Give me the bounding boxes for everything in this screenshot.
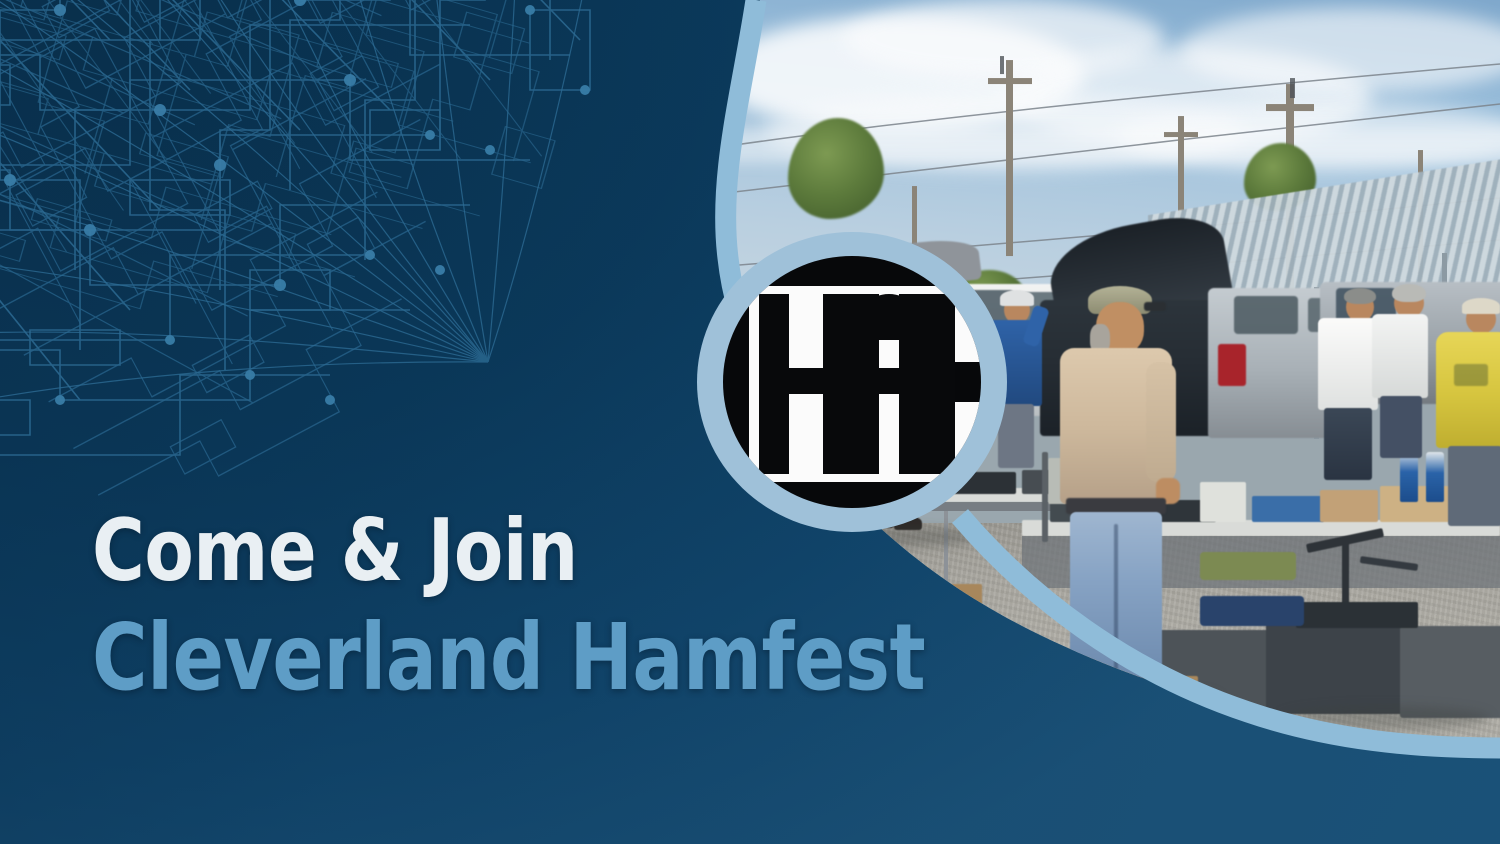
headline-line-2: Cleverland Hamfest: [92, 612, 916, 704]
cleverland-hamfest-logo[interactable]: [697, 232, 1007, 532]
person-yellow-shirt: [1436, 300, 1500, 530]
equipment-item: [1296, 602, 1418, 628]
headline-line-1: Come & Join: [92, 508, 929, 594]
person-gray-hair: [1372, 284, 1434, 464]
radio-equipment: [1200, 482, 1246, 522]
sunglasses: [1144, 302, 1166, 311]
promo-banner: Come & Join Cleverland Hamfest: [0, 0, 1500, 844]
shirt-graphic: [1454, 364, 1488, 386]
storage-crate: [1266, 618, 1416, 714]
green-equipment: [1200, 552, 1296, 580]
headline-block: Come & Join Cleverland Hamfest: [92, 508, 992, 704]
person-tan-shirt-foreground: [1060, 286, 1178, 706]
logo-plate: [749, 286, 955, 482]
trouser-seam: [1114, 524, 1118, 674]
blue-cooler: [1200, 596, 1304, 626]
logo-disc: [723, 256, 981, 508]
storage-crate: [1400, 626, 1500, 718]
